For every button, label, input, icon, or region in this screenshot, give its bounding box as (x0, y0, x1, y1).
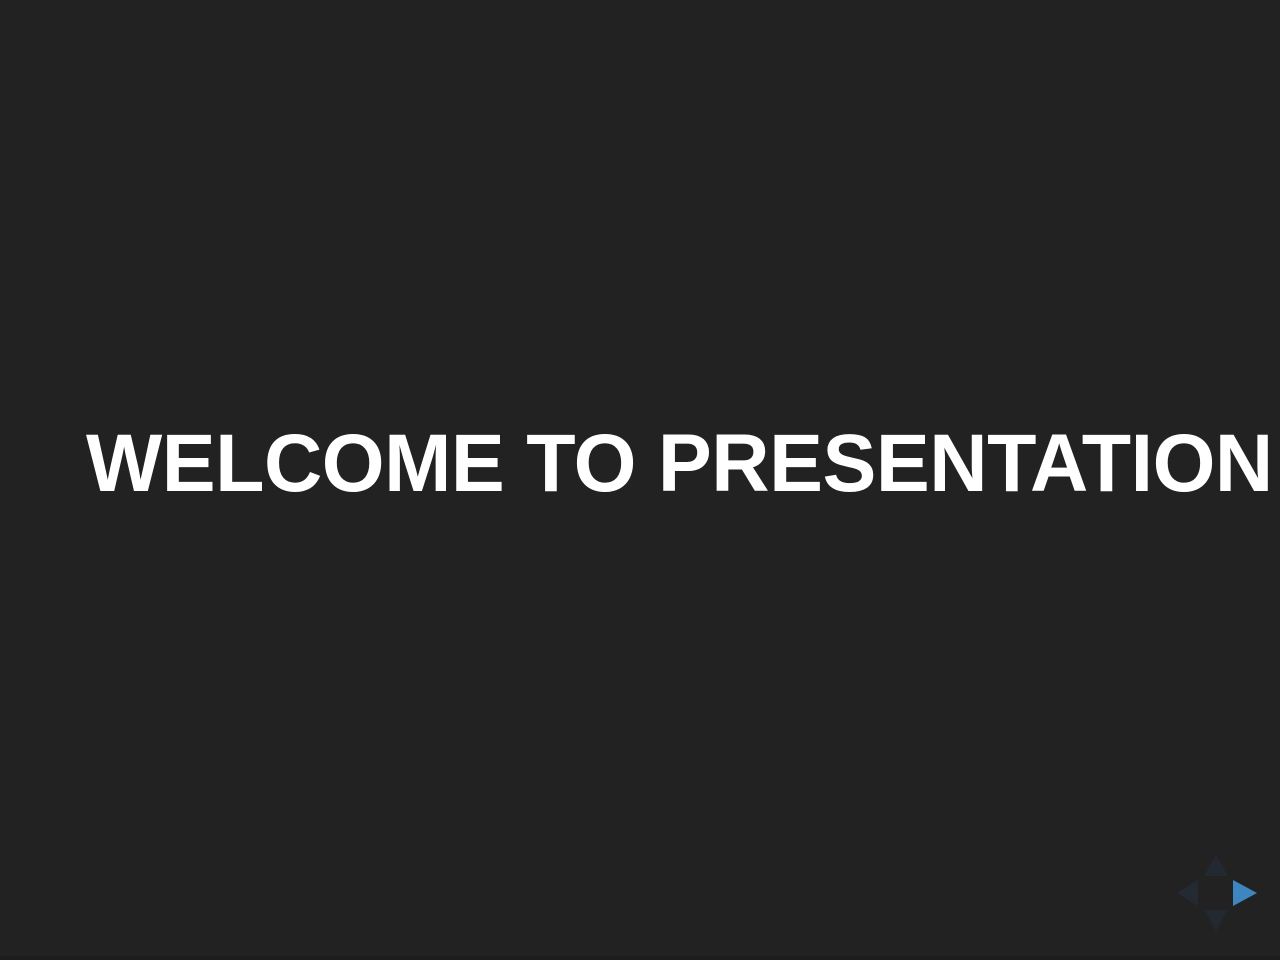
slide-navigation-controls (1168, 848, 1264, 940)
page-title: WELCOME TO PRESENTATION! (86, 423, 1280, 505)
nav-left-arrow[interactable] (1177, 880, 1198, 906)
slide-bottom-edge (0, 956, 1280, 960)
title-block: WELCOME TO PRESENTATION! (86, 414, 1206, 514)
nav-right-arrow[interactable] (1233, 880, 1257, 906)
presentation-slide: WELCOME TO PRESENTATION! (0, 0, 1280, 960)
nav-down-arrow[interactable] (1204, 910, 1228, 931)
nav-up-arrow[interactable] (1204, 855, 1228, 876)
